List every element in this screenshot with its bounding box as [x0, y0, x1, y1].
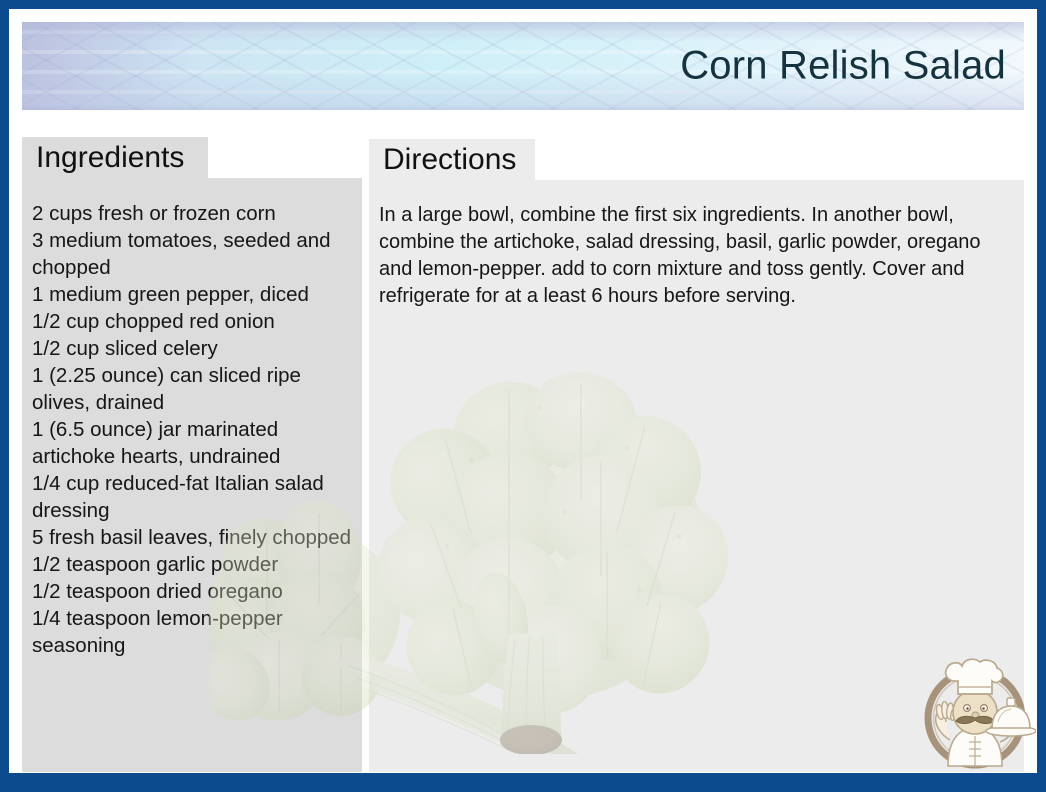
list-item: 3 medium tomatoes, seeded and chopped [32, 227, 362, 281]
section-heading-directions: Directions [369, 139, 535, 180]
header-banner: Corn Relish Salad [22, 22, 1024, 110]
ingredients-panel: 2 cups fresh or frozen corn 3 medium tom… [22, 178, 362, 772]
directions-text: In a large bowl, combine the first six i… [379, 202, 1009, 310]
ingredients-list: 2 cups fresh or frozen corn 3 medium tom… [32, 200, 362, 659]
list-item: 1 (2.25 ounce) can sliced ripe olives, d… [32, 362, 362, 416]
list-item: 1/4 cup reduced-fat Italian salad dressi… [32, 470, 362, 524]
list-item: 1/2 cup chopped red onion [32, 308, 362, 335]
list-item: 1/4 teaspoon lemon-pepper seasoning [32, 605, 362, 659]
directions-panel: In a large bowl, combine the first six i… [369, 180, 1024, 772]
list-item: 2 cups fresh or frozen corn [32, 200, 362, 227]
recipe-card: Corn Relish Salad Ingredients 2 cups fre… [9, 9, 1037, 773]
list-item: 1/2 teaspoon dried oregano [32, 578, 362, 605]
section-heading-ingredients: Ingredients [22, 137, 208, 178]
list-item: 1/2 teaspoon garlic powder [32, 551, 362, 578]
page-title: Corn Relish Salad [680, 44, 1006, 89]
list-item: 1/2 cup sliced celery [32, 335, 362, 362]
recipe-card-page: Corn Relish Salad Ingredients 2 cups fre… [0, 0, 1046, 792]
list-item: 5 fresh basil leaves, finely chopped [32, 524, 362, 551]
list-item: 1 medium green pepper, diced [32, 281, 362, 308]
list-item: 1 (6.5 ounce) jar marinated artichoke he… [32, 416, 362, 470]
